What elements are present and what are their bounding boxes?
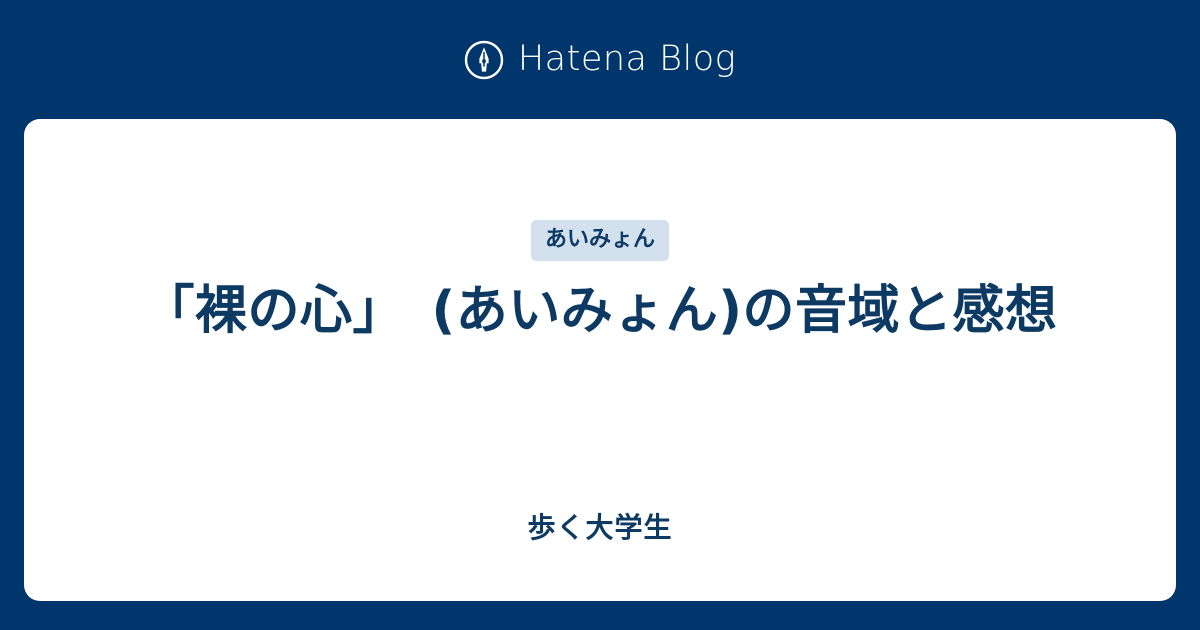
category-badge-row: あいみょん	[24, 220, 1176, 261]
brand-header: Hatena Blog	[0, 0, 1200, 119]
fountain-pen-nib-in-circle-icon	[464, 40, 504, 80]
entry-card: あいみょん 「裸の心」 (あいみょん)の音域と感想 歩く大学生	[24, 119, 1176, 601]
blog-name-row: 歩く大学生	[24, 511, 1176, 545]
blog-name[interactable]: 歩く大学生	[527, 511, 672, 545]
ogp-card-canvas: Hatena Blog あいみょん 「裸の心」 (あいみょん)の音域と感想 歩く…	[0, 0, 1200, 630]
category-badge[interactable]: あいみょん	[531, 220, 669, 261]
brand-wordmark: Hatena Blog	[518, 42, 736, 77]
entry-title: 「裸の心」 (あいみょん)の音域と感想	[24, 277, 1176, 346]
